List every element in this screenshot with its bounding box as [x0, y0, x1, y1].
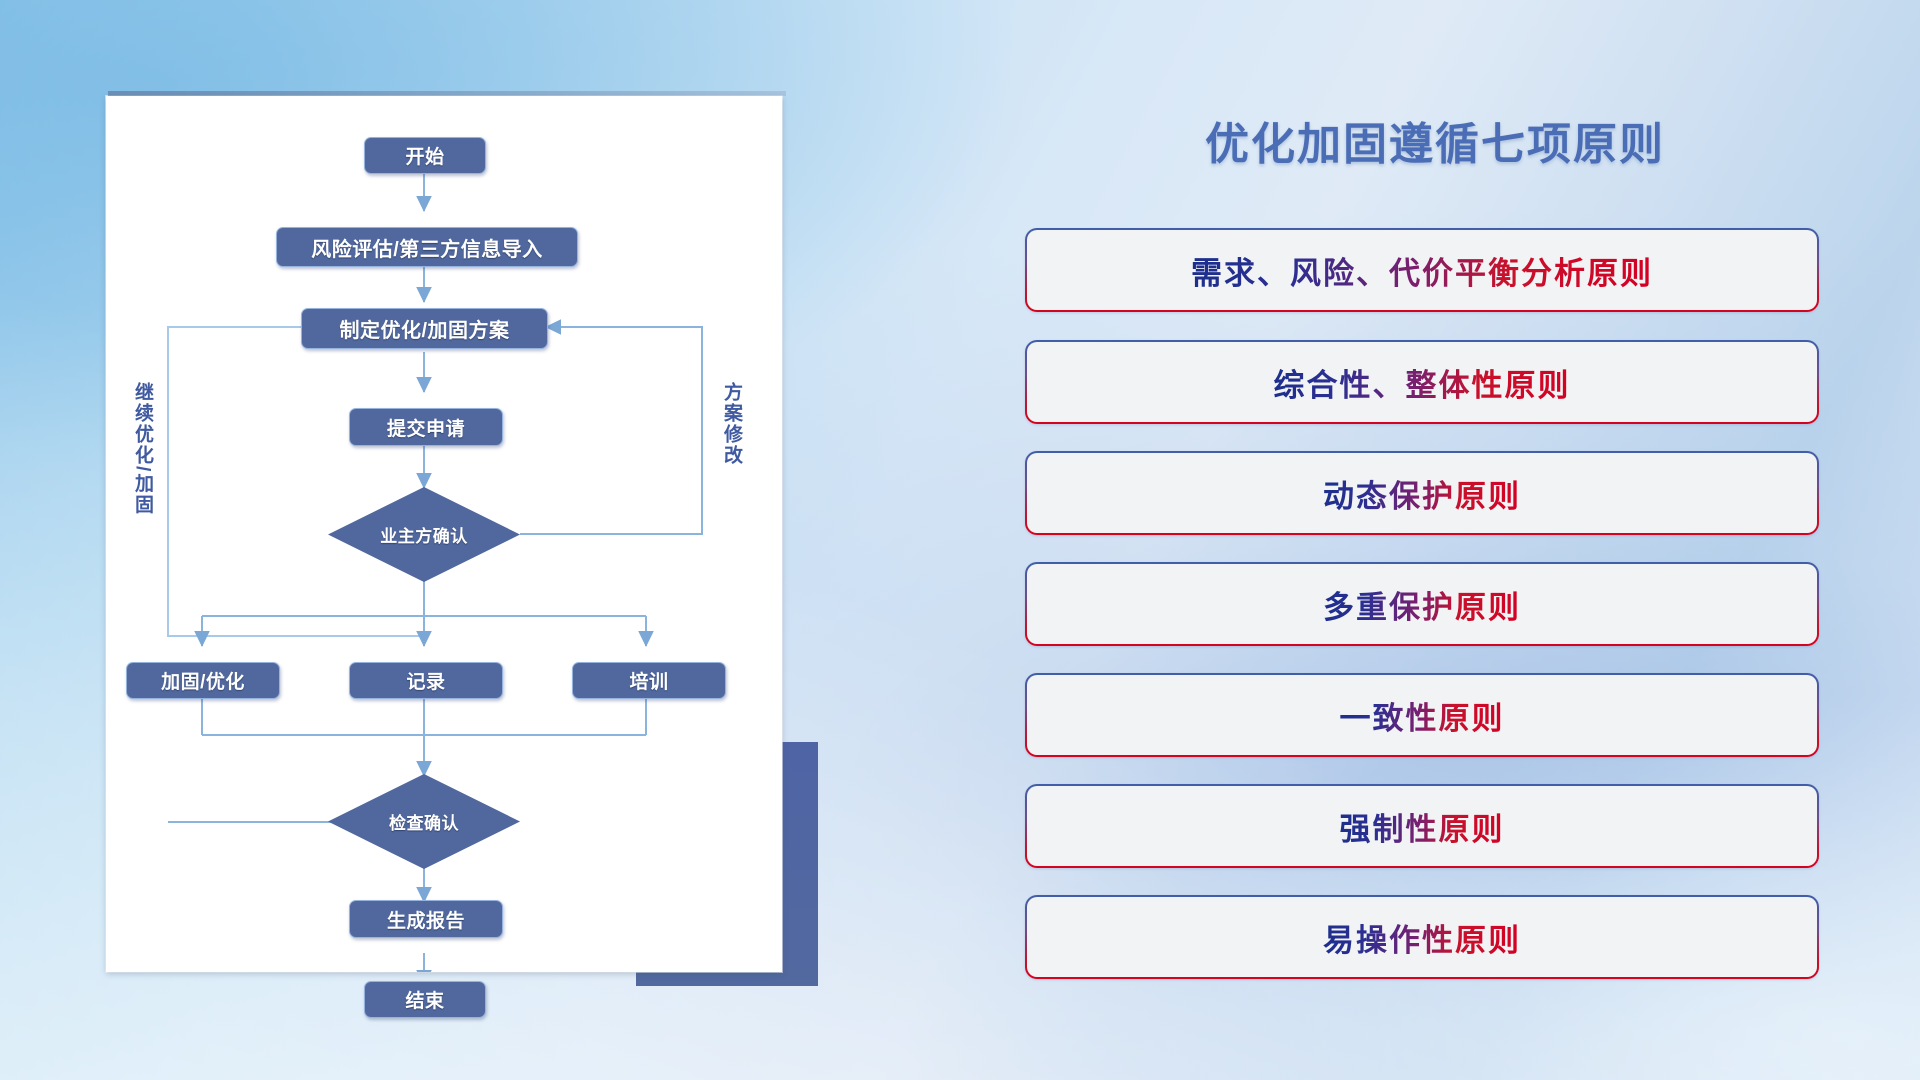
flow-node-generate-report[interactable]: 生成报告	[349, 900, 503, 938]
principle-item[interactable]: 动态保护原则	[1025, 451, 1819, 535]
principles-panel: 优化加固遵循七项原则 需求、风险、代价平衡分析原则 综合性、整体性原则 动态保护…	[1020, 80, 1840, 1010]
edge-label-continue-optimize: 继续优化/加固	[132, 382, 152, 515]
principle-label: 动态保护原则	[1323, 471, 1521, 516]
principle-item[interactable]: 一致性原则	[1025, 673, 1819, 757]
principle-item[interactable]: 强制性原则	[1025, 784, 1819, 868]
flow-node-label: 生成报告	[387, 906, 465, 933]
flow-node-label: 培训	[629, 667, 668, 694]
flow-node-label: 业主方确认	[380, 522, 468, 547]
principle-label: 一致性原则	[1340, 693, 1505, 738]
principle-item[interactable]: 易操作性原则	[1025, 895, 1819, 979]
flow-node-owner-confirm[interactable]: 业主方确认	[328, 487, 520, 582]
flow-node-label: 提交申请	[387, 414, 465, 441]
principle-label: 易操作性原则	[1323, 915, 1521, 960]
principle-label: 多重保护原则	[1323, 582, 1521, 627]
principle-label: 需求、风险、代价平衡分析原则	[1191, 248, 1653, 293]
principle-item[interactable]: 需求、风险、代价平衡分析原则	[1025, 228, 1819, 312]
principle-item[interactable]: 综合性、整体性原则	[1025, 340, 1819, 424]
flow-node-label: 加固/优化	[161, 667, 245, 694]
principle-item[interactable]: 多重保护原则	[1025, 562, 1819, 646]
principle-label: 综合性、整体性原则	[1274, 360, 1571, 405]
flow-node-reinforce-optimize[interactable]: 加固/优化	[126, 662, 280, 699]
flow-node-label: 开始	[405, 142, 444, 169]
panel-title: 优化加固遵循七项原则	[1155, 108, 1715, 172]
flow-node-check-confirm[interactable]: 检查确认	[328, 774, 520, 869]
flow-node-risk-assessment[interactable]: 风险评估/第三方信息导入	[276, 227, 578, 267]
flow-node-plan[interactable]: 制定优化/加固方案	[301, 308, 548, 349]
flow-node-submit-application[interactable]: 提交申请	[349, 408, 503, 446]
flow-node-record[interactable]: 记录	[349, 662, 503, 699]
flow-node-start[interactable]: 开始	[364, 137, 486, 174]
flow-node-label: 制定优化/加固方案	[339, 314, 509, 343]
edge-label-plan-revision: 方案修改	[721, 382, 741, 466]
principle-label: 强制性原则	[1340, 804, 1505, 849]
flow-node-training[interactable]: 培训	[572, 662, 726, 699]
flow-node-end[interactable]: 结束	[364, 981, 486, 1018]
flowchart-card: 开始 风险评估/第三方信息导入 制定优化/加固方案 提交申请 业主方确认 加固/…	[106, 96, 782, 972]
flow-node-label: 记录	[406, 667, 445, 694]
flow-node-label: 结束	[405, 986, 444, 1013]
flow-node-label: 检查确认	[389, 809, 459, 834]
flow-node-label: 风险评估/第三方信息导入	[311, 233, 543, 262]
